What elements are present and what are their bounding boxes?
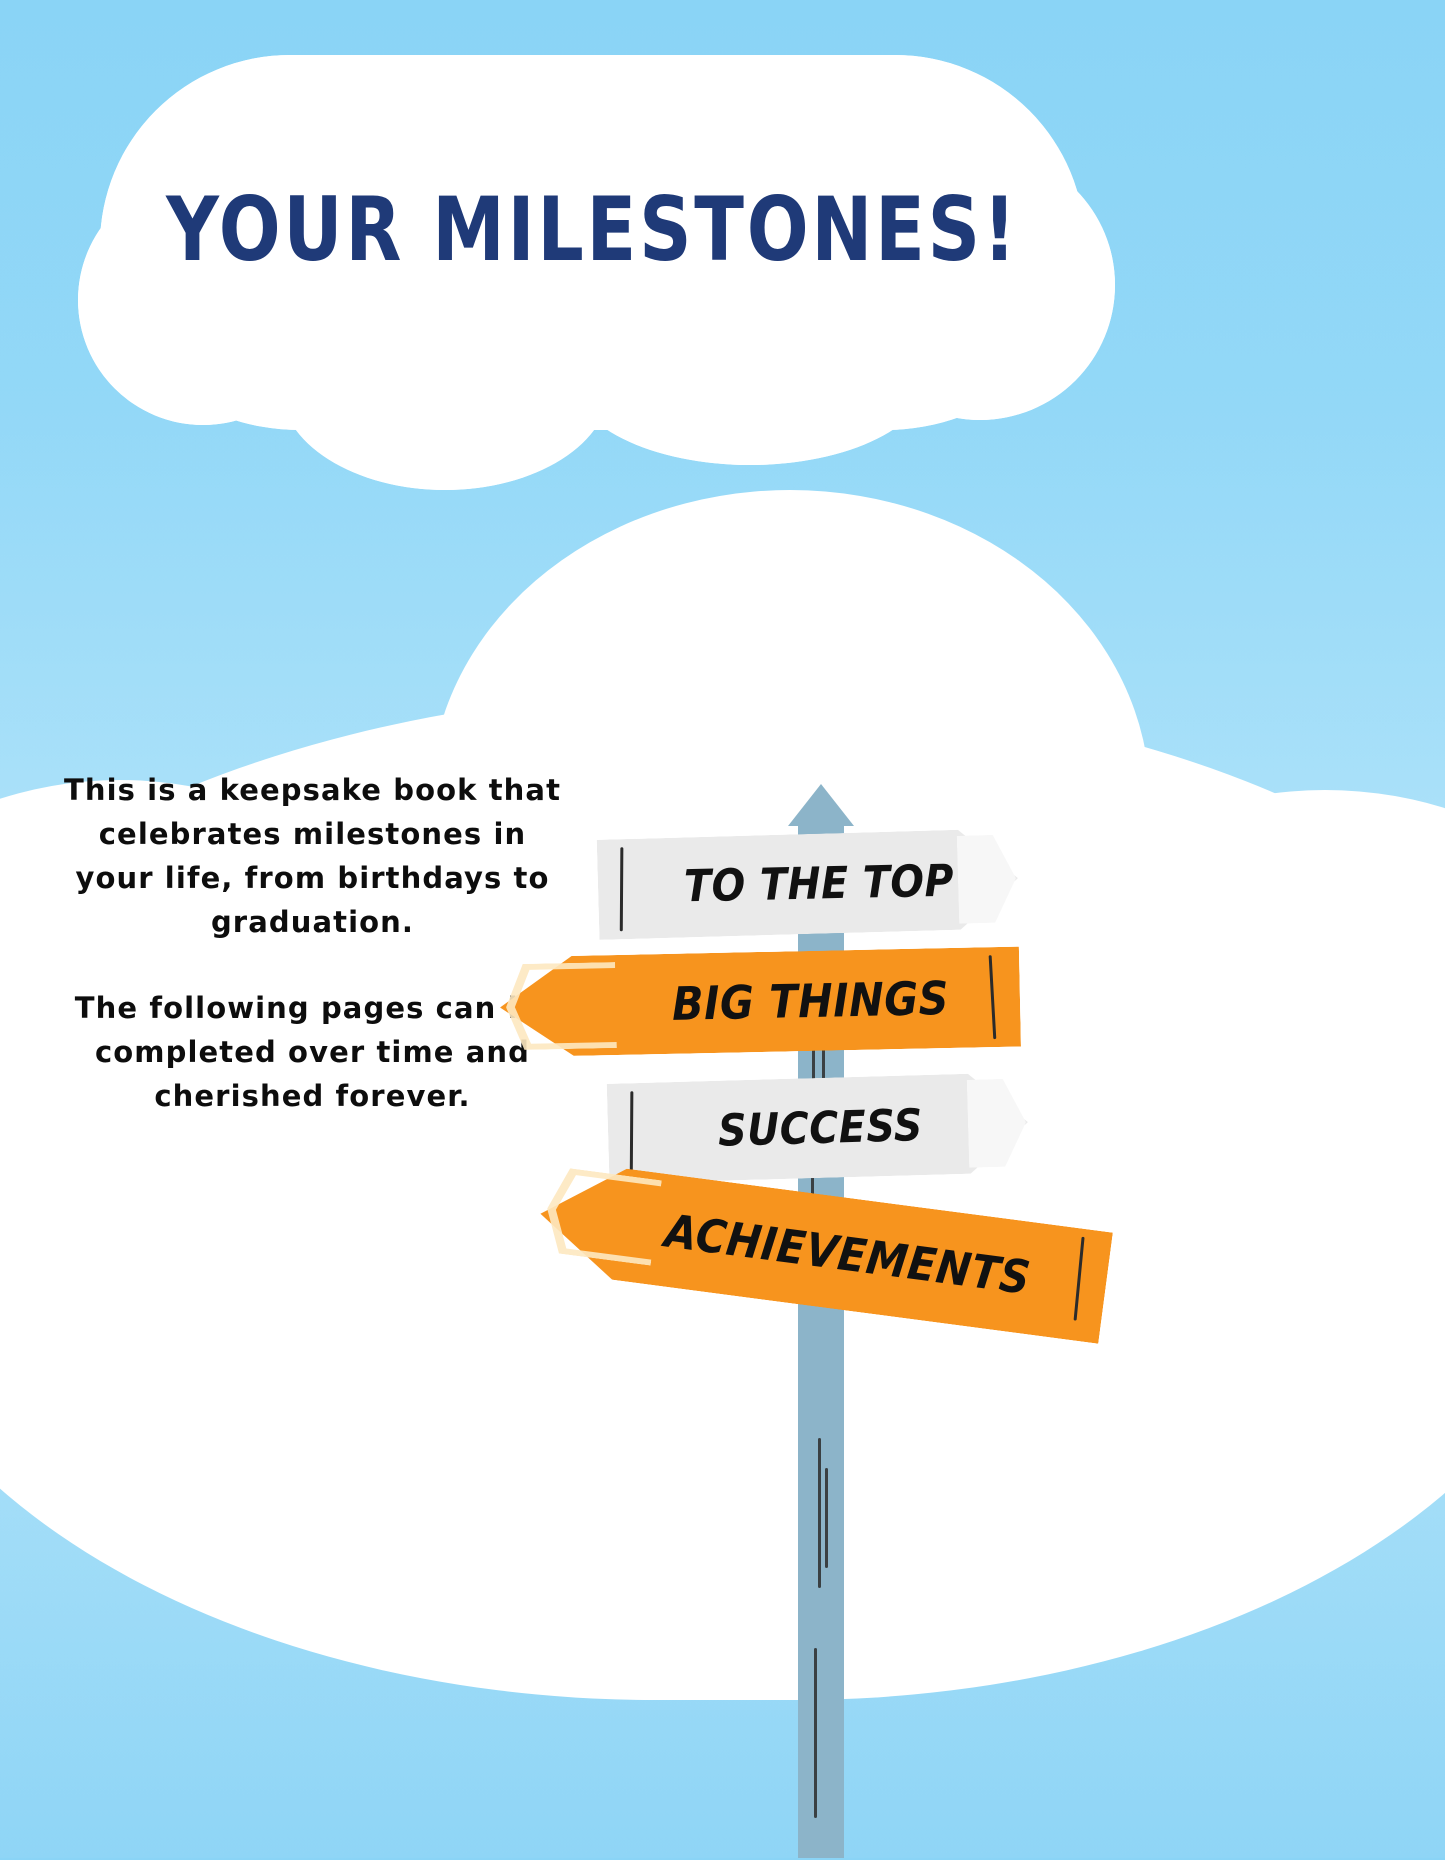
sign-label: SUCCESS bbox=[717, 1072, 1030, 1181]
cloud-title-bump-right bbox=[570, 285, 930, 465]
sign-big-things[interactable]: BIG THINGS bbox=[499, 947, 1021, 1058]
signpost-illustration: TO THE TOP BIG THINGS SUCCESS ACHIEVEMEN… bbox=[480, 800, 1120, 1860]
sign-edge-line bbox=[620, 847, 624, 931]
sign-to-the-top[interactable]: TO THE TOP bbox=[597, 828, 1020, 940]
sign-success[interactable]: SUCCESS bbox=[607, 1072, 1030, 1184]
page-title: YOUR MILESTONES! bbox=[47, 186, 1137, 274]
sign-label: ACHIEVEMENTS bbox=[658, 1175, 1113, 1344]
sign-label: BIG THINGS bbox=[671, 947, 1021, 1054]
cloud-title-bump-left bbox=[280, 280, 610, 490]
sign-label: TO THE TOP bbox=[683, 829, 1019, 936]
sign-edge-line bbox=[630, 1091, 634, 1175]
